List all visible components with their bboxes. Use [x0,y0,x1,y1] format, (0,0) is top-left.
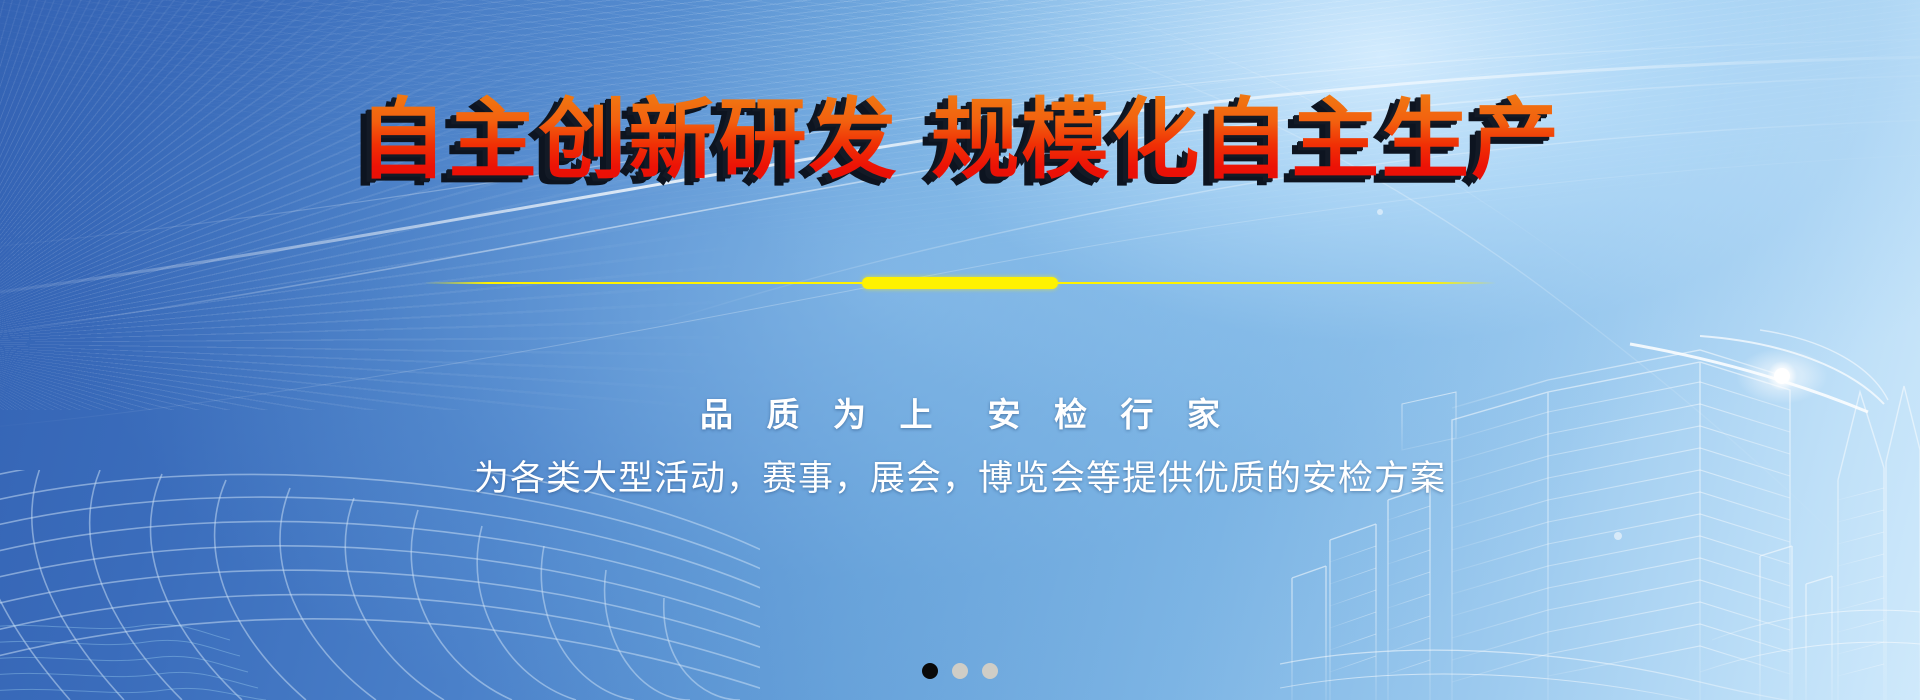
subtitle-primary: 品 质 为 上 安 检 行 家 [0,388,1920,436]
water-ripple [0,624,266,700]
carousel-dot-3[interactable] [982,663,998,679]
diagonal-texture-top [0,0,1920,390]
carousel-dots [922,663,998,679]
page-title: 自主创新研发 规模化自主生产 [0,92,1920,188]
carousel-dot-1[interactable] [922,663,938,679]
divider [424,276,1496,290]
hero-banner: 自主创新研发 规模化自主生产 品 质 为 上 安 检 行 家 为各类大型活动，赛… [0,0,1920,700]
divider-center-bar [862,277,1058,289]
subtitle-secondary: 为各类大型活动，赛事，展会，博览会等提供优质的安检方案 [0,450,1920,501]
radiating-fan-lines [0,0,990,410]
carousel-dot-2[interactable] [952,663,968,679]
